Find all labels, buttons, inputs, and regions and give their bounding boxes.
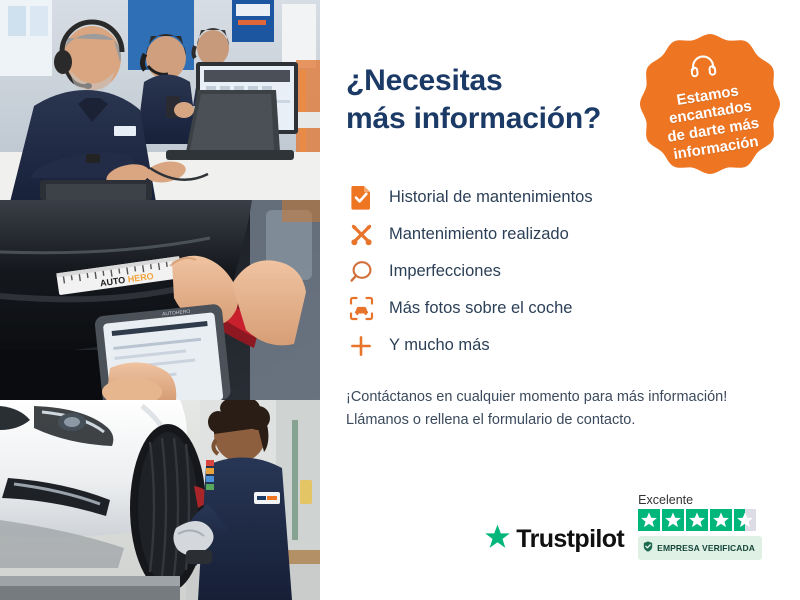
feature-label: Más fotos sobre el coche bbox=[389, 299, 572, 317]
status-badge: Estamos encantados de darte más informac… bbox=[632, 32, 788, 188]
document-check-icon bbox=[346, 183, 376, 213]
trustpilot-logo[interactable]: Trustpilot bbox=[484, 524, 624, 560]
tools-wrench-screwdriver-icon bbox=[346, 220, 376, 250]
content-panel: ¿Necesitas más información? Estamos enca bbox=[320, 0, 800, 600]
photo-strip: AUTO HERO AUTOHERO bbox=[0, 0, 320, 600]
feature-item-fotos: Más fotos sobre el coche bbox=[346, 290, 756, 327]
headline-line-2: más información? bbox=[346, 100, 636, 138]
star-half-icon bbox=[734, 509, 756, 531]
badge-starburst-shape bbox=[632, 32, 788, 188]
feature-label: Mantenimiento realizado bbox=[389, 225, 569, 243]
verified-badge: EMPRESA VERIFICADA bbox=[638, 536, 762, 560]
trustpilot-widget[interactable]: Trustpilot Excelente bbox=[484, 494, 762, 561]
feature-label: Imperfecciones bbox=[389, 262, 501, 280]
trustpilot-stars bbox=[638, 509, 756, 531]
star-filled-icon bbox=[638, 509, 660, 531]
car-photo-scan-icon bbox=[346, 294, 376, 324]
headline-line-1: ¿Necesitas bbox=[346, 64, 502, 97]
page-title: ¿Necesitas más información? bbox=[346, 62, 636, 137]
contact-line-2: Llámanos o rellena el formulario de cont… bbox=[346, 409, 756, 432]
star-filled-icon bbox=[710, 509, 732, 531]
star-filled-icon bbox=[686, 509, 708, 531]
star-filled-icon bbox=[662, 509, 684, 531]
photo-body-inspection: AUTO HERO AUTOHERO bbox=[0, 200, 320, 400]
plus-icon bbox=[346, 331, 376, 361]
feature-item-imperfecciones: Imperfecciones bbox=[346, 253, 756, 290]
feature-label: Y mucho más bbox=[389, 336, 490, 354]
info-promo-card: AUTO HERO AUTOHERO bbox=[0, 0, 800, 600]
trustpilot-rating-label: Excelente bbox=[638, 494, 693, 507]
magnifier-icon bbox=[346, 257, 376, 287]
trustpilot-star-icon bbox=[484, 524, 511, 555]
verified-label: EMPRESA VERIFICADA bbox=[657, 544, 755, 553]
contact-line-1: ¡Contáctanos en cualquier momento para m… bbox=[346, 386, 756, 409]
feature-item-mas: Y mucho más bbox=[346, 327, 756, 364]
photo-call-center bbox=[0, 0, 320, 200]
feature-label: Historial de mantenimientos bbox=[389, 188, 593, 206]
trustpilot-wordmark: Trustpilot bbox=[516, 527, 624, 552]
shield-check-icon bbox=[643, 539, 653, 557]
feature-list: Historial de mantenimientos M bbox=[346, 179, 756, 364]
photo-tire-inspection bbox=[0, 400, 320, 600]
contact-text: ¡Contáctanos en cualquier momento para m… bbox=[346, 386, 756, 432]
feature-item-mantenimiento: Mantenimiento realizado bbox=[346, 216, 756, 253]
trustpilot-rating: Excelente bbox=[638, 494, 762, 561]
